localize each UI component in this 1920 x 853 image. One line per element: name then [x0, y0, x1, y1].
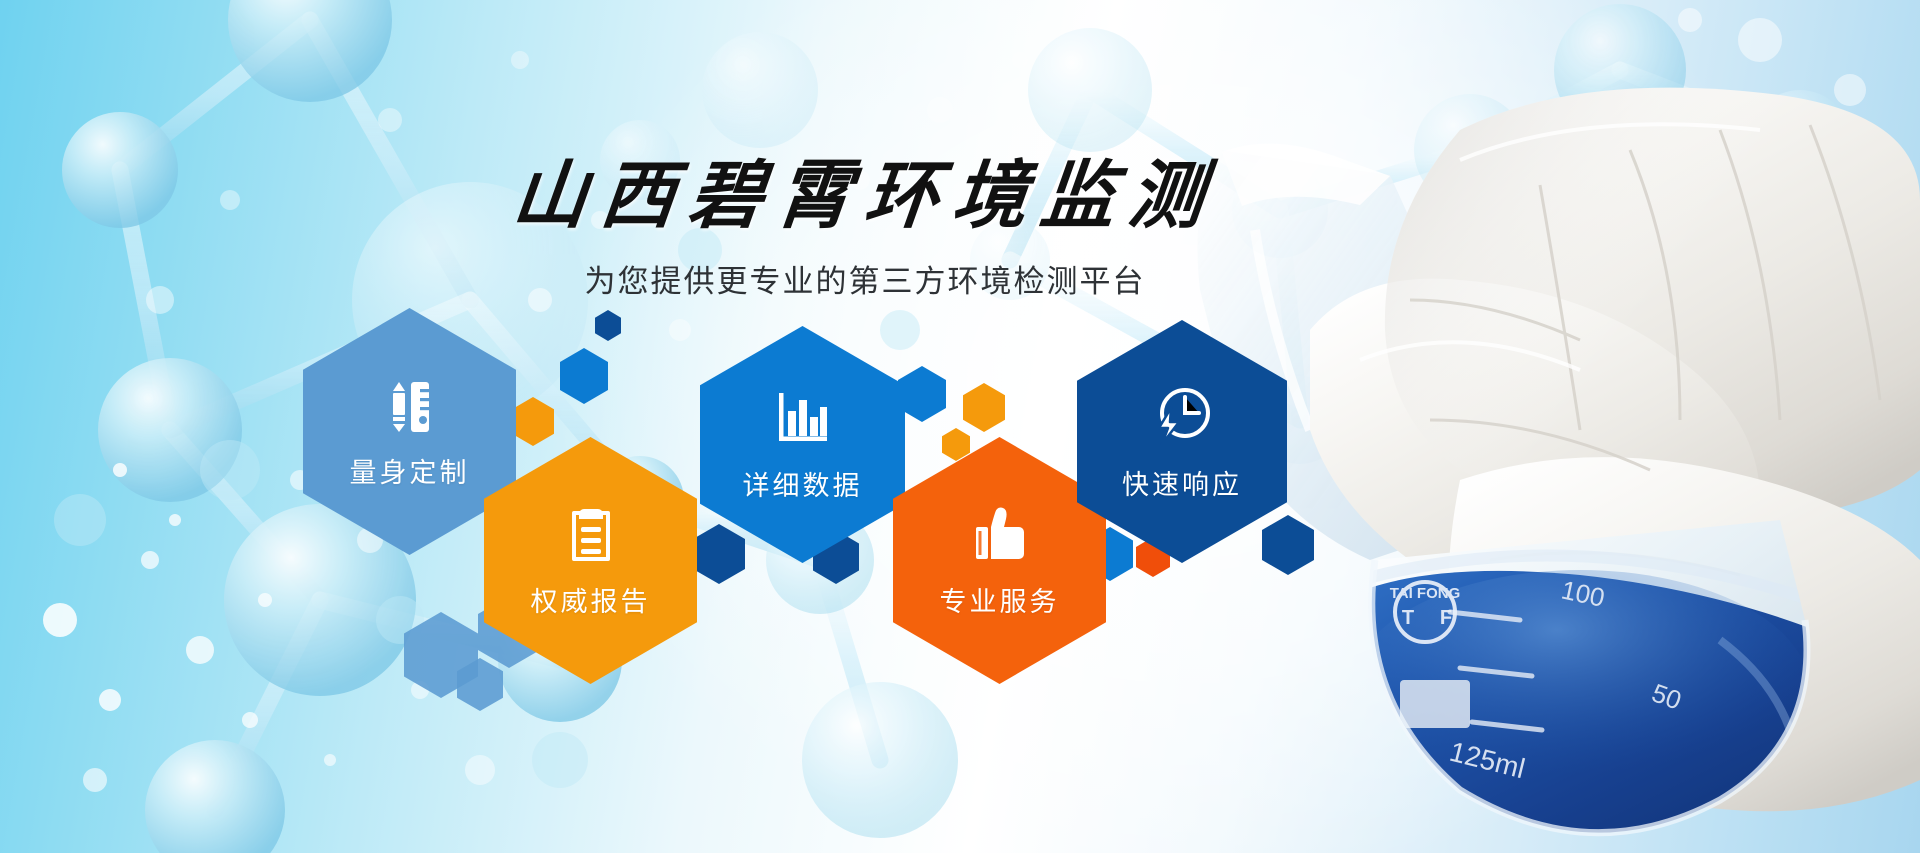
- clipboard-icon: [560, 503, 622, 570]
- feature-label-response: 快速响应: [1122, 463, 1242, 502]
- thumbs-up-icon: [969, 503, 1031, 570]
- feature-label-service: 专业服务: [940, 580, 1060, 619]
- decorative-hexagon-blue: [898, 366, 946, 422]
- feature-label-custom: 量身定制: [350, 451, 470, 490]
- feature-label-data: 详细数据: [743, 464, 863, 503]
- decorative-hexagon-blue: [560, 348, 608, 404]
- feature-hexagon-data[interactable]: 详细数据: [700, 326, 905, 563]
- clock-bolt-icon: [1149, 382, 1215, 453]
- decorative-hexagon-orange: [942, 428, 970, 461]
- hero-banner: TAI FONG T F 100 50 125ml 山西碧霄环境监测: [0, 0, 1920, 853]
- feature-hexagon-response[interactable]: 快速响应: [1077, 320, 1287, 563]
- decorative-hexagon-orange: [512, 397, 554, 446]
- decorative-hexagon-navy: [595, 310, 621, 341]
- decorative-hexagon-navy: [693, 524, 745, 584]
- bar-chart-icon: [772, 387, 834, 454]
- feature-label-report: 权威报告: [531, 580, 651, 619]
- feature-hexagon-group: 量身定制 权威报告: [0, 0, 1920, 853]
- decorative-hexagon-navy: [1262, 515, 1314, 575]
- pencil-ruler-icon: [379, 374, 441, 441]
- feature-hexagon-service[interactable]: 专业服务: [893, 437, 1106, 684]
- decorative-hexagon-orange: [963, 383, 1005, 432]
